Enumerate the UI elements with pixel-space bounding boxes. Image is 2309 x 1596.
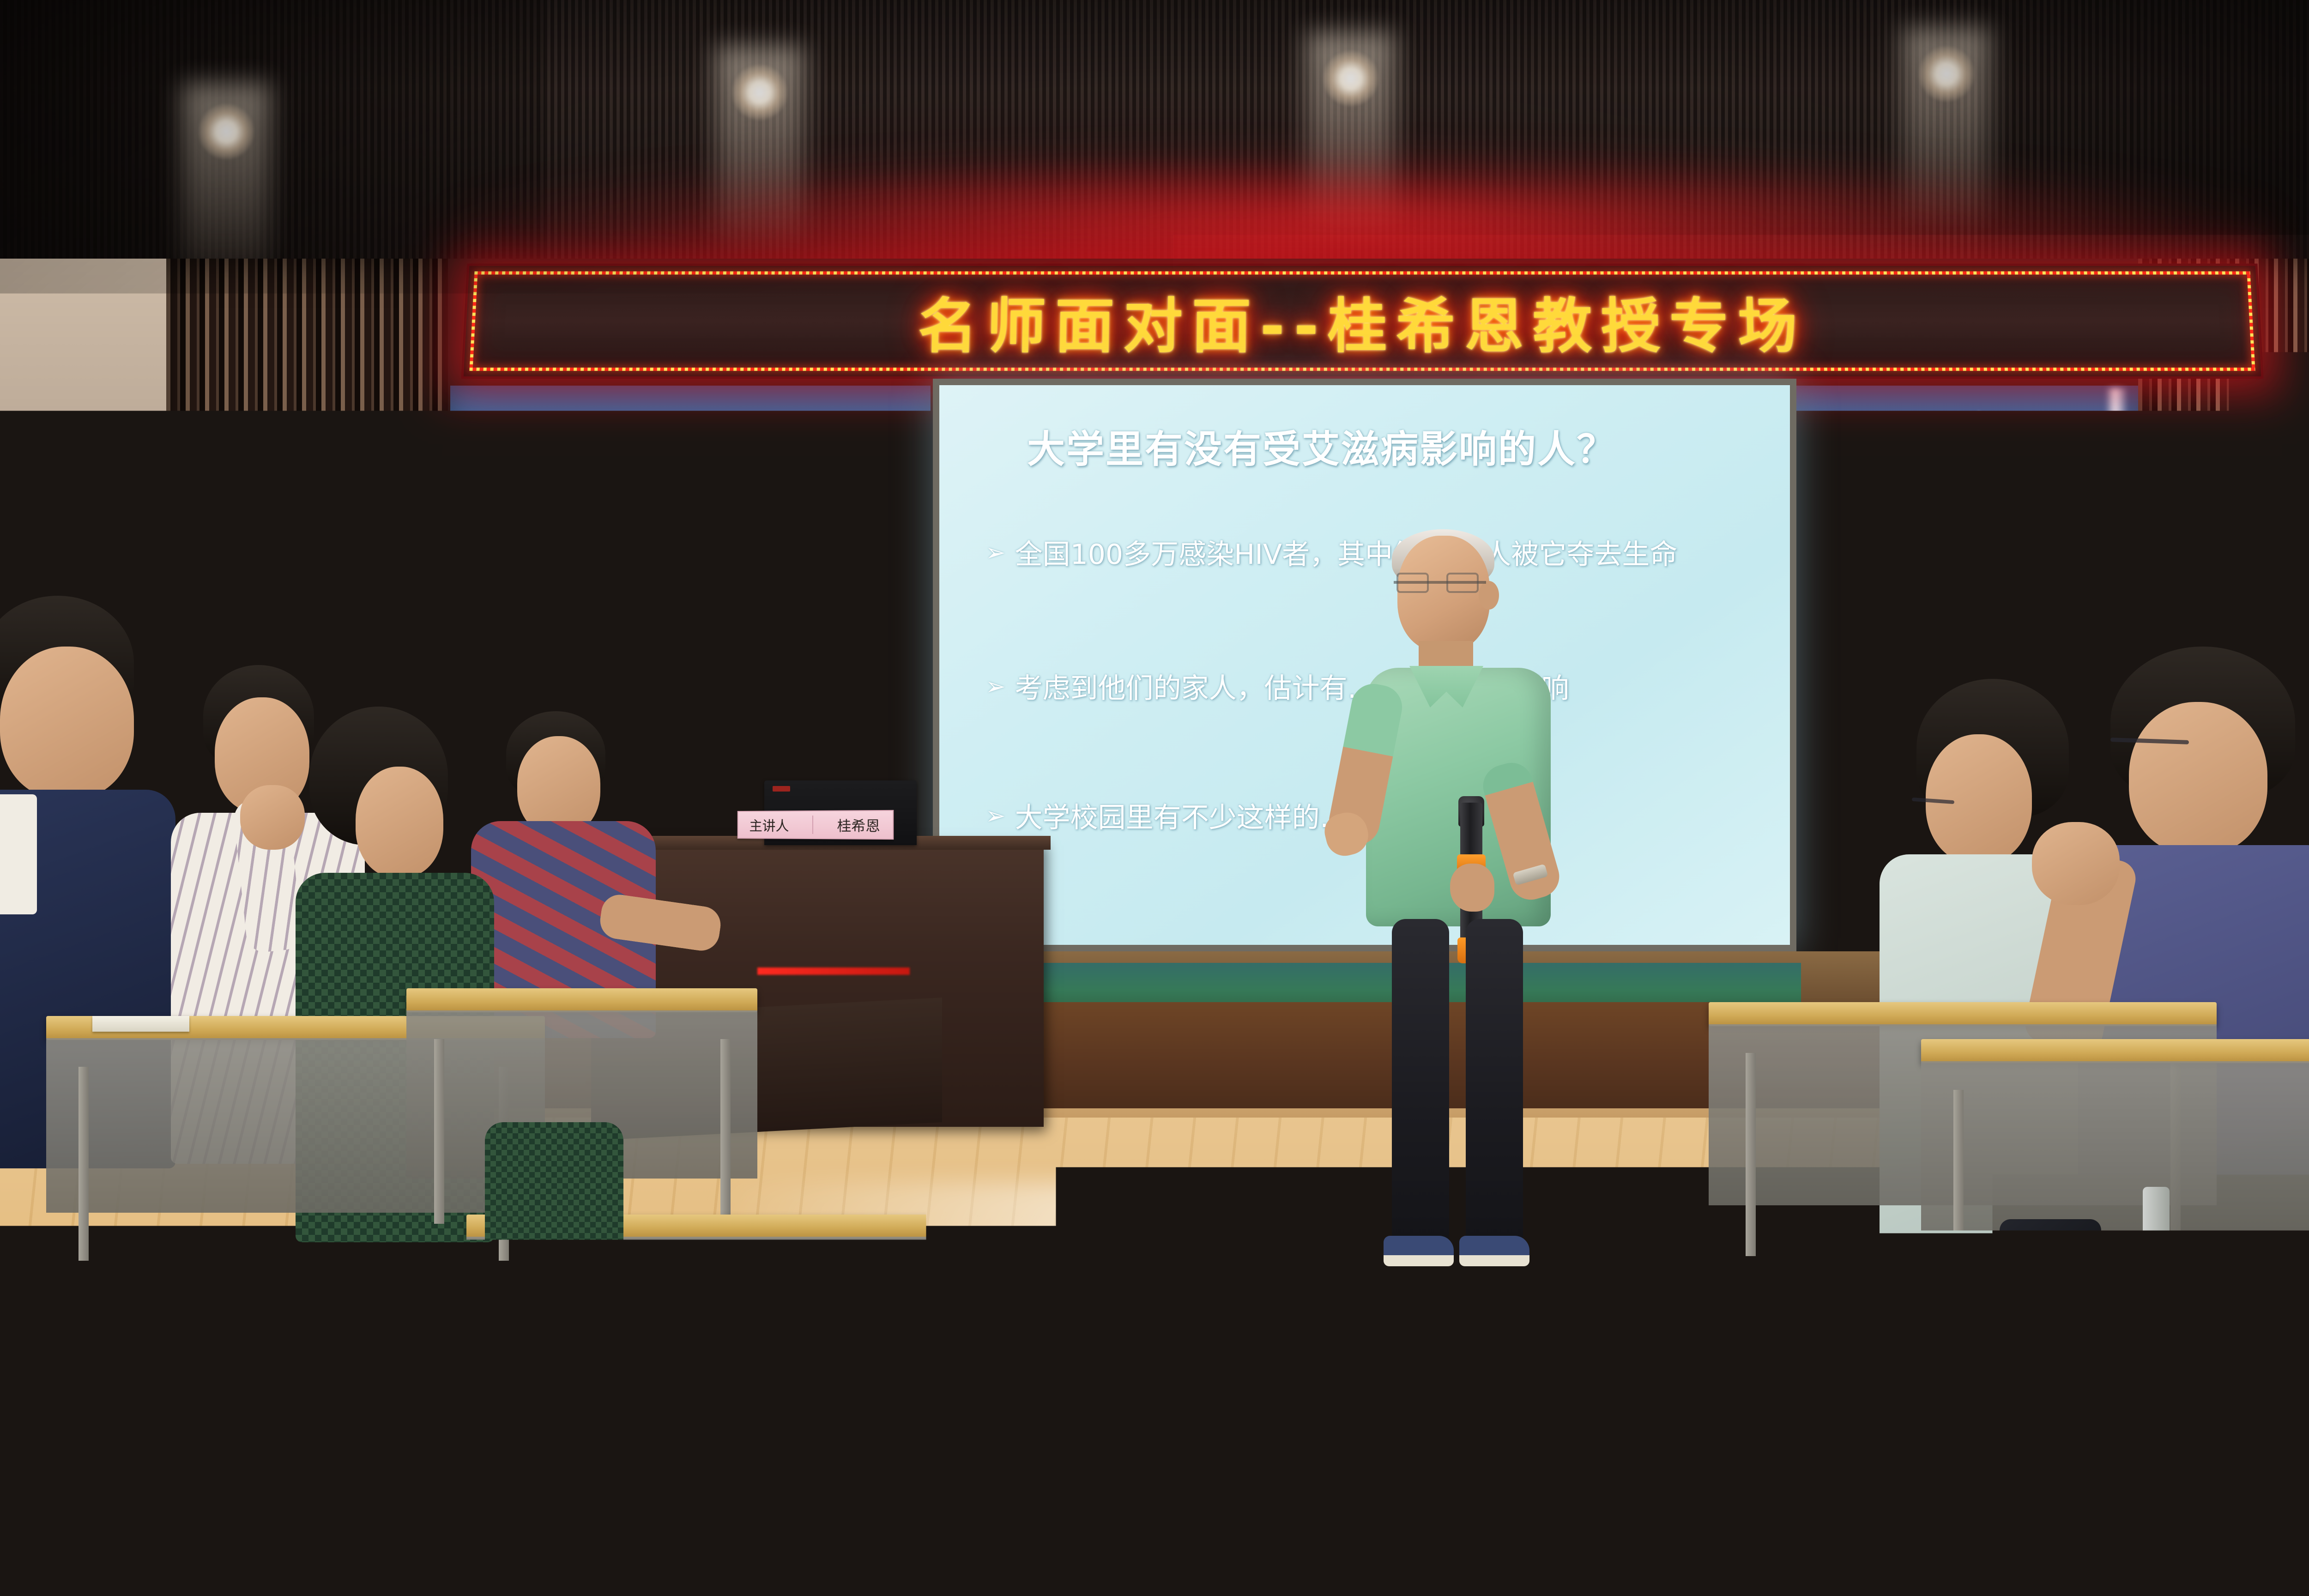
notebook [92,1016,189,1032]
person-legs [485,1122,623,1321]
person-head [2129,702,2267,854]
desk-top-surface [1709,1002,2217,1026]
speaker-ear [1479,581,1499,610]
person-head [0,647,134,799]
desk-leg [1746,1053,1756,1256]
bullet-arrow-icon: ➢ [985,801,1006,832]
nameplate-divider [812,816,813,834]
backpack [2000,1219,2101,1302]
speaker-professor [1312,531,1598,1307]
person-head [1926,734,2032,864]
person-shoe [730,1353,854,1397]
ceiling-downlight [1323,51,1378,106]
bullet-arrow-icon: ➢ [985,538,1006,569]
student-desk [1921,1039,2309,1298]
emblem-gate-glyph [577,448,629,482]
speaker-leg [1392,919,1449,1242]
eyeglass-lens [1446,573,1479,593]
led-banner: 名师面对面--桂希恩教授专场 [461,264,2263,379]
person-head [517,736,600,835]
desk-leg [1953,1090,1964,1293]
person-hand [2032,822,2120,905]
desk-top-surface [1921,1039,2309,1063]
cloud-shape [487,626,686,686]
desk-leg [79,1067,89,1261]
person-shirt-collar [0,794,37,914]
ceiling-downlight [1919,46,1974,102]
water-bottle [2143,1187,2170,1242]
speaker-mic-hand [1450,864,1494,912]
speaker-legs [1389,919,1528,1270]
eyeglasses-icon [1394,581,1486,584]
wuhan-university-emblem-icon [564,426,642,503]
laptop-logo-icon [773,786,790,792]
speaker-head [1397,536,1490,651]
person-head [356,767,443,877]
speaker-shoe [1459,1236,1529,1266]
speaker-leg [1466,919,1523,1242]
desk-leg [434,1039,444,1224]
speaker-nameplate: 主讲人 桂希恩 [737,810,894,840]
eyeglass-lens [1396,573,1429,593]
nameplate-name: 桂希恩 [837,814,880,835]
lecture-hall-photo: 自强 弘毅 求是 拓新 名师面对面--桂希恩教授专场 大学里有没有受艾滋病影响的… [0,0,2309,1596]
audience-shoe-group [656,1275,850,1413]
speaker-shoe [1384,1236,1454,1266]
window-frame [0,522,162,533]
desk-under-shelf [1921,1061,2309,1242]
bullet-arrow-icon: ➢ [985,671,1006,703]
floor-reflection [1478,1307,1533,1459]
led-banner-text: 名师面对面--桂希恩教授专场 [464,266,2261,376]
floor-reflection [1395,1298,1450,1450]
student-desk [2258,1256,2309,1478]
desk-top-surface [406,988,757,1012]
desk-under-shelf [2258,1278,2309,1433]
control-panel-led [757,967,910,975]
slide-bullet-text: 大学校园里有不少这样的… [1015,801,1348,835]
cloud-shape [690,667,912,737]
slide-bullet-3: ➢ 大学校园里有不少这样的… [985,801,1348,835]
ceiling-downlight [732,65,787,120]
desk-leg [877,1265,888,1469]
ceiling-downlight [199,104,254,159]
slide-title: 大学里有没有受艾滋病影响的人？ [1027,418,1616,473]
desk-top-surface [2258,1256,2309,1280]
nameplate-role: 主讲人 [750,815,789,835]
